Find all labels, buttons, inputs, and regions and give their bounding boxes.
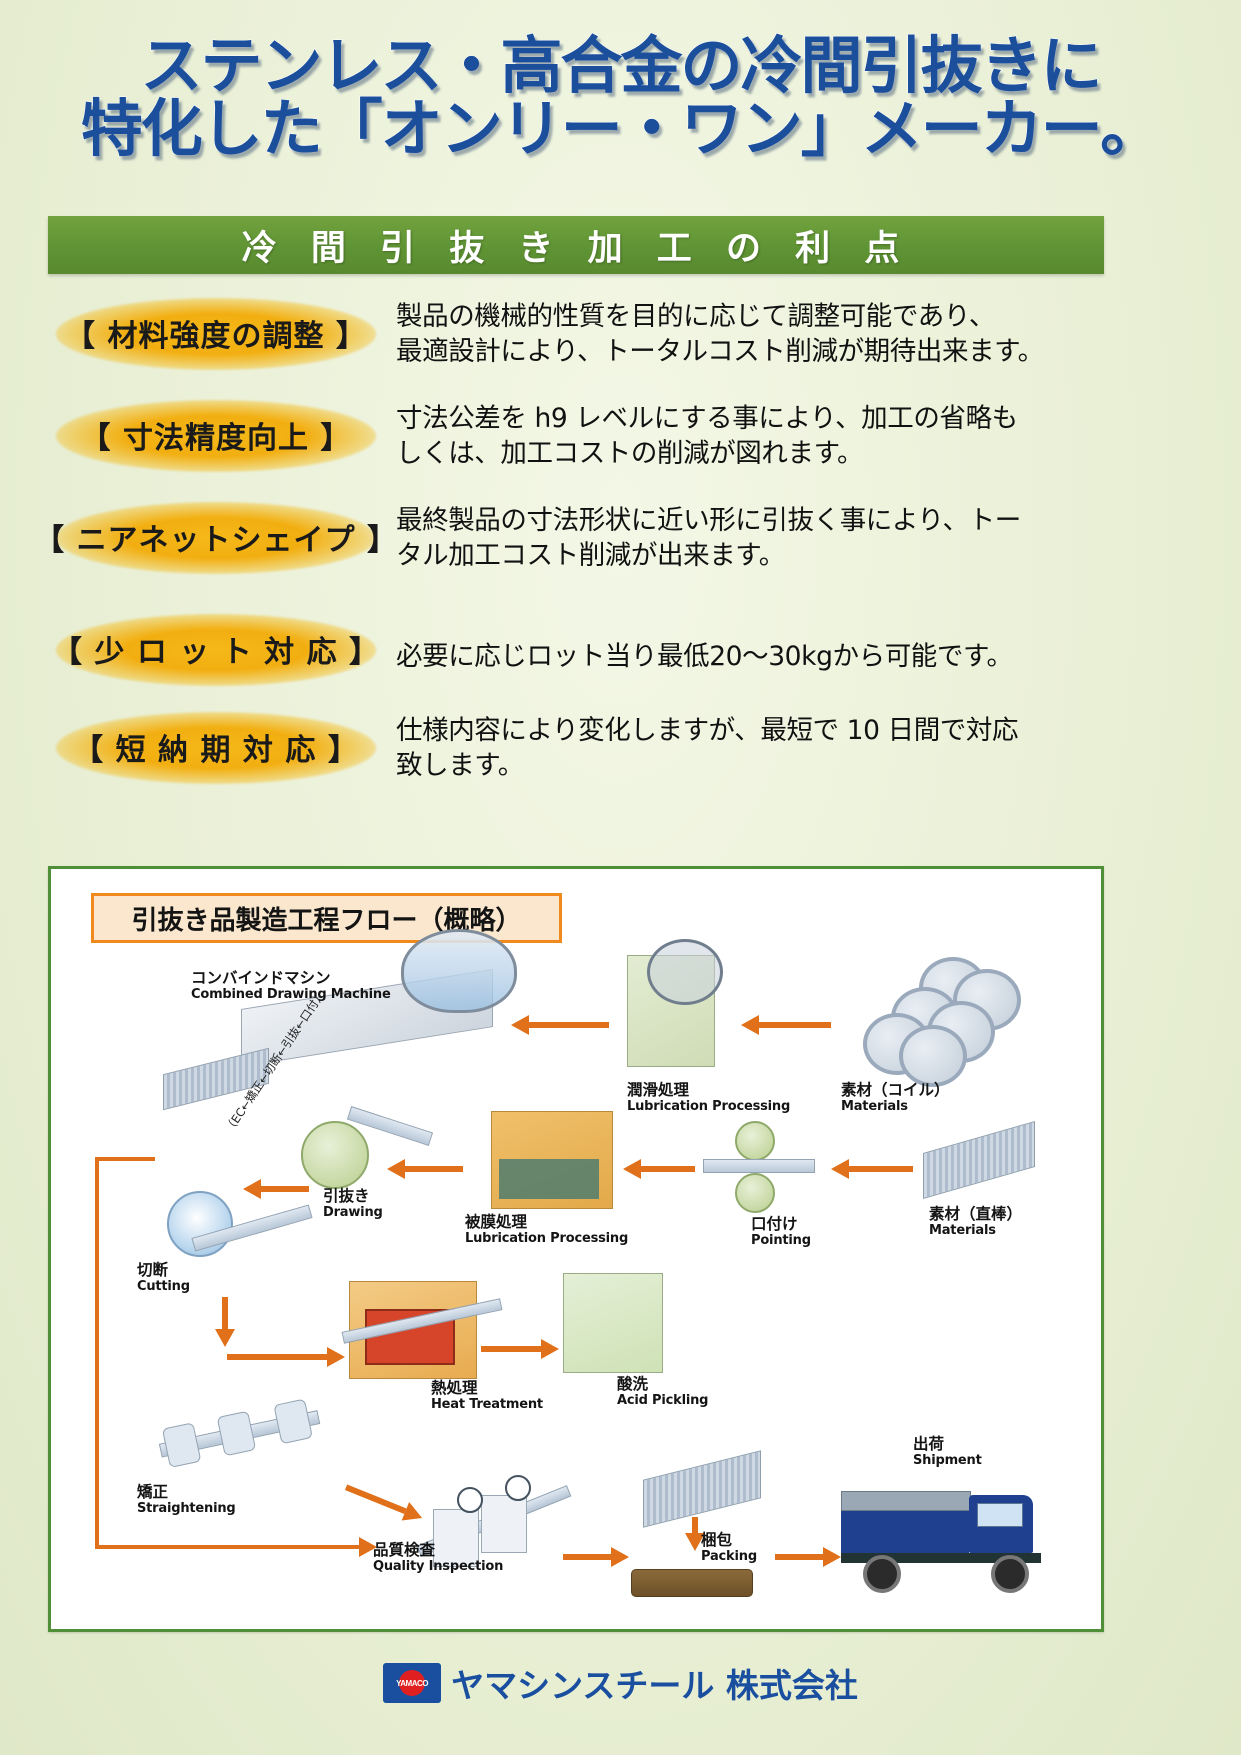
- flow-label-heat-treatment: 熱処理 Heat Treatment: [431, 1379, 543, 1413]
- arrow-shaft: [775, 1554, 823, 1560]
- flow-label-lubrication-2: 被膜処理 Lubrication Processing: [465, 1213, 628, 1247]
- benefit-body: 寸法公差を h9 レベルにする事により、加工の省略も しくは、加工コストの削減が…: [392, 398, 1205, 472]
- arrowhead-icon: [243, 1179, 261, 1199]
- arrow-shaft: [849, 1166, 913, 1172]
- flow-label-acid-pickling: 酸洗 Acid Pickling: [617, 1375, 708, 1409]
- poster-page: ステンレス・高合金の冷間引抜きに 特化した「オンリー・ワン」メーカー。 冷 間 …: [0, 0, 1241, 1755]
- arrow-shaft: [345, 1484, 407, 1514]
- benefit-body: 仕様内容により変化しますが、最短で 10 日間で対応 致します。: [392, 710, 1205, 784]
- arrow-shaft: [692, 1517, 698, 1533]
- materials-bar-icon: [923, 1121, 1035, 1199]
- pointing-roller-bottom-icon: [735, 1173, 775, 1213]
- flow-label-shipment: 出荷 Shipment: [913, 1435, 982, 1469]
- materials-coil-icon: [841, 957, 1011, 1067]
- company-logo-icon: YAMACO: [383, 1663, 441, 1703]
- benefit-tag: 【 短 納 期 対 応 】: [40, 710, 392, 784]
- footer-logo-area: YAMACO ヤマシンスチール 株式会社: [0, 1648, 1241, 1718]
- arrow-shaft: [222, 1297, 228, 1329]
- arrowhead-icon: [611, 1547, 629, 1567]
- benefit-body: 最終製品の寸法形状に近い形に引抜く事により、トー タル加工コスト削減が出来ます。: [392, 500, 1205, 574]
- flow-label-materials-coil: 素材（コイル） Materials: [841, 1081, 950, 1115]
- flow-label-cutting: 切断 Cutting: [137, 1261, 190, 1295]
- flow-label-packing: 梱包 Packing: [701, 1531, 757, 1565]
- straightening-rolls-icon: [155, 1393, 323, 1479]
- drawing-die-icon: [301, 1121, 369, 1189]
- benefit-tag: 【 材料強度の調整 】: [40, 296, 392, 370]
- arrow-shaft: [529, 1022, 609, 1028]
- flow-label-pointing: 口付け Pointing: [751, 1215, 811, 1249]
- flow-label-lubrication-1: 潤滑処理 Lubrication Processing: [627, 1081, 790, 1115]
- headline-line-2: 特化した「オンリー・ワン」メーカー。: [0, 97, 1241, 160]
- benefit-body-line: タル加工コスト削減が出来ます。: [396, 539, 1205, 574]
- benefit-row: 【 短 納 期 対 応 】 仕様内容により変化しますが、最短で 10 日間で対応…: [40, 710, 1205, 798]
- arrow-shaft: [405, 1166, 463, 1172]
- arrow-shaft: [641, 1166, 695, 1172]
- arrowhead-icon: [327, 1347, 345, 1367]
- film-tank-liquid-icon: [499, 1159, 599, 1199]
- benefit-body-line: しくは、加工コストの削減が図れます。: [396, 437, 1205, 472]
- flow-return-path-vertical: [95, 1157, 99, 1549]
- arrow-shaft: [481, 1346, 541, 1352]
- flow-arrow-drawing-to-cutting: [243, 1179, 309, 1199]
- flow-arrow-inspection-to-packing: [563, 1547, 629, 1567]
- flow-arrow-to-heat-treatment: [227, 1347, 347, 1367]
- benefit-body-line: 仕様内容により変化しますが、最短で 10 日間で対応: [396, 714, 1205, 749]
- packing-package-icon: [631, 1569, 753, 1597]
- headline-line-1: ステンレス・高合金の冷間引抜きに: [0, 34, 1241, 97]
- benefit-body-line: 必要に応じロット当り最低20〜30kgから可能です。: [396, 640, 1205, 675]
- company-name: ヤマシンスチール 株式会社: [451, 1659, 858, 1707]
- section-banner-title: 冷 間 引 抜 き 加 工 の 利 点: [242, 220, 911, 271]
- flow-label-combined-machine: コンバインドマシン Combined Drawing Machine: [191, 969, 391, 1003]
- flow-arrow-bar-to-pointing: [831, 1159, 913, 1179]
- pointing-roller-top-icon: [735, 1121, 775, 1161]
- arrowhead-icon: [541, 1339, 559, 1359]
- flow-label-straightening: 矯正 Straightening: [137, 1483, 235, 1517]
- benefit-tag: 【 ニアネットシェイプ 】: [40, 500, 392, 574]
- flow-arrow-coil-to-lubrication: [741, 1015, 831, 1035]
- benefit-body-line: 最適設計により、トータルコスト削減が期待出来ます。: [396, 335, 1205, 370]
- benefit-tag-label: 【 短 納 期 対 応 】: [73, 725, 359, 769]
- page-headline: ステンレス・高合金の冷間引抜きに 特化した「オンリー・ワン」メーカー。: [0, 34, 1241, 160]
- combined-machine-reel-icon: [401, 929, 517, 1013]
- benefit-body-line: 製品の機械的性質を目的に応じて調整可能であり、: [396, 300, 1205, 335]
- benefit-tag: 【 少 ロ ッ ト 対 応 】: [40, 612, 392, 686]
- flow-label-quality-inspection: 品質検査 Quality Inspection: [373, 1541, 503, 1575]
- arrowhead-icon: [823, 1547, 841, 1567]
- benefit-body-line: 最終製品の寸法形状に近い形に引抜く事により、トー: [396, 504, 1205, 539]
- shipment-truck-icon: [841, 1481, 1053, 1591]
- benefit-row: 【 ニアネットシェイプ 】 最終製品の寸法形状に近い形に引抜く事により、トー タ…: [40, 500, 1205, 588]
- arrow-shaft: [563, 1554, 611, 1560]
- section-banner: 冷 間 引 抜 き 加 工 の 利 点: [48, 216, 1104, 274]
- acid-pickling-tank-icon: [563, 1273, 663, 1373]
- benefit-body-line: 寸法公差を h9 レベルにする事により、加工の省略も: [396, 402, 1205, 437]
- benefit-row: 【 材料強度の調整 】 製品の機械的性質を目的に応じて調整可能であり、 最適設計…: [40, 296, 1205, 382]
- arrowhead-icon: [741, 1015, 759, 1035]
- benefit-tag-label: 【 ニアネットシェイプ 】: [34, 515, 398, 559]
- benefits-list: 【 材料強度の調整 】 製品の機械的性質を目的に応じて調整可能であり、 最適設計…: [40, 296, 1205, 814]
- benefit-tag: 【 寸法精度向上 】: [40, 398, 392, 472]
- benefit-tag-label: 【 材料強度の調整 】: [65, 311, 367, 355]
- benefit-tag-label: 【 寸法精度向上 】: [81, 413, 352, 457]
- flow-arrow-film-to-drawing: [387, 1159, 463, 1179]
- flow-arrow-packing-to-shipment: [775, 1547, 841, 1567]
- benefit-body: 必要に応じロット当り最低20〜30kgから可能です。: [392, 624, 1205, 675]
- flow-label-materials-bar: 素材（直棒） Materials: [929, 1205, 1022, 1239]
- arrowhead-icon: [623, 1159, 641, 1179]
- flow-label-drawing: 引抜き Drawing: [323, 1187, 383, 1221]
- flow-return-path-horizontal-bottom: [95, 1545, 361, 1549]
- flow-arrow-pointing-to-film: [623, 1159, 695, 1179]
- benefit-tag-label: 【 少 ロ ッ ト 対 応 】: [52, 627, 380, 671]
- benefit-row: 【 寸法精度向上 】 寸法公差を h9 レベルにする事により、加工の省略も しく…: [40, 398, 1205, 484]
- arrow-shaft: [227, 1354, 327, 1360]
- arrow-shaft: [261, 1186, 309, 1192]
- process-flow-panel: 引抜き品製造工程フロー（概略） 素材（コイル） Materials 潤滑処理 L…: [48, 866, 1104, 1632]
- flow-return-path-horizontal-top: [95, 1157, 155, 1161]
- arrowhead-icon: [831, 1159, 849, 1179]
- lubrication-coil-1-icon: [647, 939, 723, 1005]
- benefit-body: 製品の機械的性質を目的に応じて調整可能であり、 最適設計により、トータルコスト削…: [392, 296, 1205, 370]
- pointing-bar-icon: [703, 1159, 815, 1173]
- arrow-shaft: [759, 1022, 831, 1028]
- benefit-row: 【 少 ロ ッ ト 対 応 】 必要に応じロット当り最低20〜30kgから可能で…: [40, 604, 1205, 694]
- flow-arrow-heat-to-pickling: [481, 1339, 559, 1359]
- benefit-body-line: 致します。: [396, 749, 1205, 784]
- arrowhead-icon: [511, 1015, 529, 1035]
- arrowhead-icon: [387, 1159, 405, 1179]
- logo-badge-text: YAMACO: [399, 1670, 425, 1696]
- flow-arrow-lubrication-to-machine: [511, 1015, 611, 1035]
